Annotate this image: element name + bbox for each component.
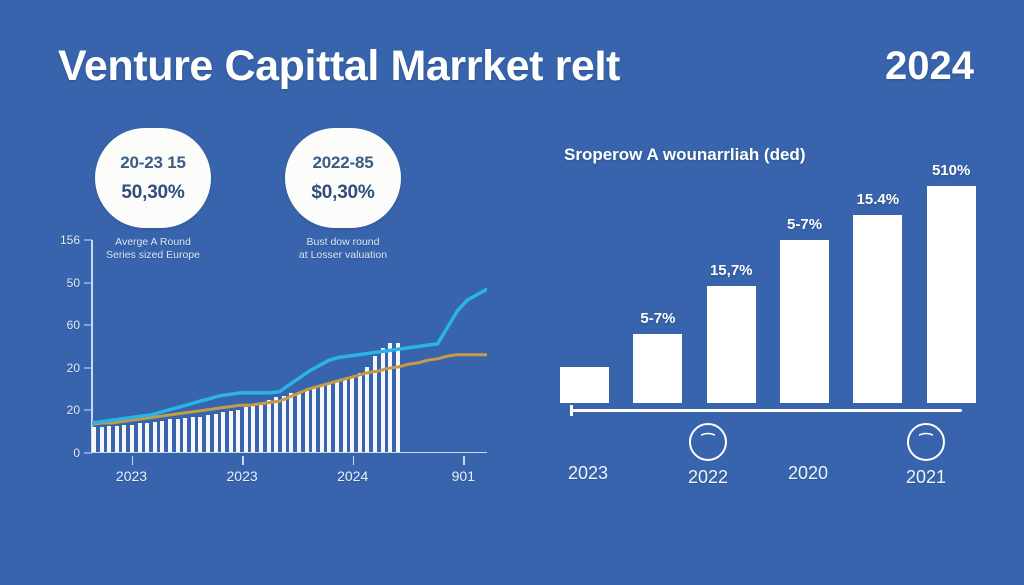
right-chart-x-tick-group: ⁀2022 xyxy=(688,423,728,488)
right-bar-chart: Sroperow A wounarrliah (ded) 5-7%15,7%5-… xyxy=(548,145,988,495)
left-chart-x-tickmark xyxy=(353,456,355,465)
left-chart-lines xyxy=(92,240,487,453)
right-chart-bar-label: 5-7% xyxy=(640,310,675,327)
right-chart-x-tick: 2023 xyxy=(568,463,608,484)
left-chart-x-tick: 2023 xyxy=(116,468,147,484)
left-chart-y-tick: 60 xyxy=(67,318,80,332)
right-chart-bar-slot: 510% xyxy=(914,173,987,403)
left-chart-x-tick: 2024 xyxy=(337,468,368,484)
tilde-circle-icon: ⁀ xyxy=(907,423,945,461)
left-chart-y-tick: 50 xyxy=(67,276,80,290)
left-chart-y-tick: 20 xyxy=(67,403,80,417)
right-chart-bar-slot: 15.4% xyxy=(841,173,914,403)
stat-bubble-1-value-top: 20-23 15 xyxy=(120,153,186,173)
right-chart-x-tick: 2020 xyxy=(788,463,828,484)
right-chart-bar: 5-7% xyxy=(780,240,829,403)
right-chart-bar-slot xyxy=(548,173,621,403)
left-chart-x-tickmark xyxy=(132,456,134,465)
right-chart-bar-label: 15.4% xyxy=(857,191,900,208)
stat-bubble-2-value-bottom: $0,30% xyxy=(311,182,374,204)
right-chart-x-tick: 2021 xyxy=(906,467,946,488)
left-chart-x-tickmark xyxy=(242,456,244,465)
right-chart-x-tick-group: 2020 xyxy=(788,423,828,484)
left-chart-x-tick: 901 xyxy=(452,468,475,484)
right-chart-bar: 5-7% xyxy=(633,334,682,403)
left-chart-x-axis: 202320232024901 xyxy=(92,456,487,490)
cyan-line xyxy=(92,289,487,423)
right-chart-bar-slot: 5-7% xyxy=(768,173,841,403)
right-chart-bar: 15,7% xyxy=(707,286,756,403)
right-chart-x-axis: 2023⁀20222020⁀2021 xyxy=(548,423,988,493)
left-chart-x-tick: 2023 xyxy=(227,468,258,484)
stat-bubble-2-disc: 2022-85 $0,30% xyxy=(285,128,401,228)
right-chart-bars: 5-7%15,7%5-7%15.4%510% xyxy=(548,173,988,403)
right-chart-axis-line xyxy=(570,409,962,412)
left-combo-chart: 156506020200 202320232024901 xyxy=(30,240,490,490)
stat-bubble-1-disc: 20-23 15 50,30% xyxy=(95,128,211,228)
right-chart-x-tick-group: ⁀2021 xyxy=(906,423,946,488)
right-chart-x-tick-group: 2023 xyxy=(568,423,608,484)
right-chart-bar: 15.4% xyxy=(853,215,902,403)
right-chart-bar: 510% xyxy=(927,186,976,403)
left-chart-y-tick: 156 xyxy=(60,233,80,247)
left-chart-plot xyxy=(92,240,487,453)
right-chart-plot: 5-7%15,7%5-7%15.4%510% xyxy=(548,173,988,403)
right-chart-bar-label: 510% xyxy=(932,162,970,179)
infographic-page: Venture Capittal Marrket reIt 2024 20-23… xyxy=(0,0,1024,585)
right-chart-bar-slot: 5-7% xyxy=(621,173,694,403)
right-chart-bar-slot: 15,7% xyxy=(695,173,768,403)
right-chart-bar xyxy=(560,367,609,403)
right-chart-bar-label: 15,7% xyxy=(710,262,753,279)
year-label: 2024 xyxy=(885,44,974,89)
left-chart-y-axis: 156506020200 xyxy=(30,240,92,453)
page-title: Venture Capittal Marrket reIt xyxy=(58,42,620,91)
stat-bubble-2-value-top: 2022-85 xyxy=(313,153,374,173)
left-chart-x-tickmark xyxy=(463,456,465,465)
stat-bubble-1-value-bottom: 50,30% xyxy=(121,182,184,204)
header: Venture Capittal Marrket reIt 2024 xyxy=(58,42,974,102)
left-chart-y-tick: 20 xyxy=(67,361,80,375)
right-chart-x-tick: 2022 xyxy=(688,467,728,488)
right-chart-title: Sroperow A wounarrliah (ded) xyxy=(564,145,805,165)
left-chart-y-tick: 0 xyxy=(73,446,80,460)
tilde-circle-icon: ⁀ xyxy=(689,423,727,461)
right-chart-bar-label: 5-7% xyxy=(787,216,822,233)
right-chart-icon-spacer xyxy=(568,423,608,463)
right-chart-icon-spacer xyxy=(788,423,828,463)
